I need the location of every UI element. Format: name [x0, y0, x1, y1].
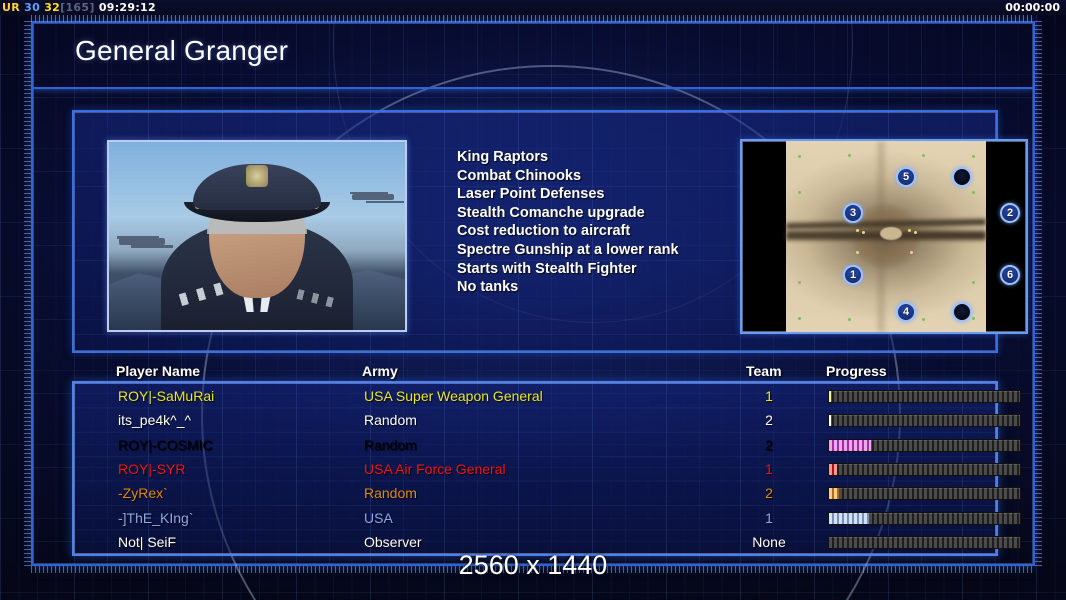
minimap-tree [798, 317, 801, 320]
team-cell: None [748, 534, 790, 550]
title-bar: General Granger [33, 23, 1033, 89]
minimap-start-position[interactable]: 2 [1000, 203, 1020, 223]
minimap-island [880, 227, 902, 240]
column-header-player-name: Player Name [116, 363, 200, 379]
minimap-resource [908, 229, 911, 232]
progress-bar [828, 439, 1021, 452]
minimap-resource [856, 251, 859, 254]
column-header-army: Army [362, 363, 398, 379]
minimap-start-position[interactable]: 6 [1000, 265, 1020, 285]
status-bracket-value: [165] [60, 1, 95, 14]
minimap-resource [914, 231, 917, 234]
general-portrait [107, 140, 407, 332]
player-name-cell: -]ThE_KIng` [118, 510, 193, 526]
bonus-item: Laser Point Defenses [457, 185, 757, 204]
bonus-item: Spectre Gunship at a lower rank [457, 241, 757, 260]
army-cell: USA [364, 510, 393, 526]
frame-ruler-top [31, 15, 1035, 22]
progress-bar-fill [829, 415, 831, 426]
progress-bar [828, 390, 1021, 403]
rank-insignia [296, 289, 339, 309]
army-cell: Observer [364, 534, 422, 550]
match-timer: 00:00:00 [1005, 0, 1060, 15]
general-info-panel: King Raptors Combat Chinooks Laser Point… [72, 110, 998, 353]
minimap-tree [972, 155, 975, 158]
table-row[interactable]: its_pe4k^_^Random2 [74, 409, 996, 433]
table-row[interactable]: ROY|-SYRUSA Air Force General1 [74, 458, 996, 482]
minimap-start-position[interactable] [952, 167, 972, 187]
aircraft-icon [119, 238, 165, 245]
minimap-tree [972, 317, 975, 320]
column-header-team: Team [746, 363, 782, 379]
progress-bar-fill [829, 440, 871, 451]
player-name-cell: Not| SeiF [118, 534, 176, 550]
bonus-item: Starts with Stealth Fighter [457, 260, 757, 279]
minimap-tree [848, 154, 851, 157]
frame-ruler-left [24, 21, 31, 566]
army-cell: Random [364, 485, 417, 501]
bonus-item: Stealth Comanche upgrade [457, 204, 757, 223]
status-value-2: 32 [44, 1, 60, 14]
minimap-start-position[interactable]: 5 [896, 167, 916, 187]
player-name-cell: ROY|-SYR [118, 461, 185, 477]
general-bonus-list: King Raptors Combat Chinooks Laser Point… [457, 148, 757, 297]
resolution-overlay: 2560 x 1440 [0, 550, 1066, 581]
minimap-resource [910, 251, 913, 254]
team-cell: 1 [748, 510, 790, 526]
bonus-item: King Raptors [457, 148, 757, 167]
minimap-start-position[interactable]: 1 [843, 265, 863, 285]
army-cell: Random [364, 437, 417, 453]
status-label: UR [2, 1, 20, 14]
minimap-start-position[interactable]: 4 [896, 302, 916, 322]
team-cell: 2 [748, 485, 790, 501]
minimap-resource [862, 231, 865, 234]
army-cell: USA Super Weapon General [364, 388, 543, 404]
minimap-tree [848, 318, 851, 321]
progress-bar-fill [829, 391, 831, 402]
top-status-bar: UR 30 32[165] 09:29:12 00:00:00 [0, 0, 1066, 15]
minimap-resource [856, 229, 859, 232]
minimap-start-position[interactable] [952, 302, 972, 322]
table-row[interactable]: ROY|-SaMuRaiUSA Super Weapon General1 [74, 385, 996, 409]
progress-bar [828, 487, 1021, 500]
table-row[interactable]: -]ThE_KIng`USA1 [74, 507, 996, 531]
minimap-tree [972, 191, 975, 194]
progress-bar-fill [829, 488, 839, 499]
player-name-cell: -ZyRex` [118, 485, 168, 501]
game-lobby-screen: UR 30 32[165] 09:29:12 00:00:00 General … [0, 0, 1066, 600]
bonus-item: Cost reduction to aircraft [457, 222, 757, 241]
network-status-text: UR 30 32[165] 09:29:12 [2, 0, 156, 15]
progress-bar [828, 536, 1021, 549]
player-name-cell: ROY|-COSMIC [118, 437, 213, 453]
team-cell: 1 [748, 461, 790, 477]
minimap-start-position[interactable]: 3 [843, 203, 863, 223]
player-name-cell: ROY|-SaMuRai [118, 388, 214, 404]
progress-bar-fill [829, 513, 869, 524]
team-cell: 2 [748, 412, 790, 428]
minimap-tree [798, 155, 801, 158]
minimap-tree [972, 281, 975, 284]
minimap-tree [798, 281, 801, 284]
column-header-progress: Progress [826, 363, 887, 379]
status-clock: 09:29:12 [99, 1, 156, 14]
bonus-item: Combat Chinooks [457, 167, 757, 186]
minimap-terrain: 532164 [786, 141, 986, 332]
table-row[interactable]: -ZyRex`Random2 [74, 482, 996, 506]
player-list-panel: ROY|-SaMuRaiUSA Super Weapon General1its… [72, 381, 998, 556]
army-cell: USA Air Force General [364, 461, 506, 477]
status-value-1: 30 [24, 1, 40, 14]
team-cell: 1 [748, 388, 790, 404]
team-cell: 2 [748, 437, 790, 453]
army-cell: Random [364, 412, 417, 428]
progress-bar [828, 414, 1021, 427]
progress-bar [828, 463, 1021, 476]
bonus-item: No tanks [457, 278, 757, 297]
progress-bar [828, 512, 1021, 525]
aircraft-icon [352, 194, 394, 200]
minimap-tree [922, 318, 925, 321]
progress-bar-fill [829, 464, 837, 475]
portrait-cap-badge [246, 165, 268, 187]
player-name-cell: its_pe4k^_^ [118, 412, 191, 428]
page-title: General Granger [75, 35, 288, 67]
minimap-tree [798, 191, 801, 194]
minimap-tree [922, 154, 925, 157]
main-window-frame: General Granger [31, 21, 1035, 566]
table-row[interactable]: ROY|-COSMICRandom2 [74, 434, 996, 458]
player-table-header: Player Name Army Team Progress [72, 361, 998, 381]
frame-ruler-right [1035, 21, 1042, 566]
minimap[interactable]: 532164 [740, 139, 1028, 334]
